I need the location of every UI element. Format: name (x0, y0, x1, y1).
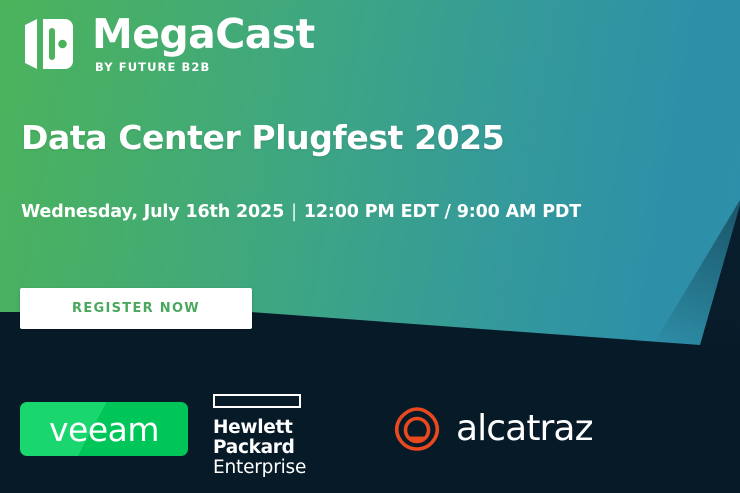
hpe-line-2: Enterprise (213, 458, 378, 479)
brand-name: MegaCast (92, 14, 315, 55)
brand-lockup: MegaCast BY FUTURE B2B (20, 14, 315, 74)
veeam-logo-icon[interactable]: veeam (20, 402, 188, 456)
veeam-wordmark: veeam (49, 413, 159, 446)
hpe-logo[interactable]: Hewlett Packard Enterprise (213, 394, 378, 479)
alcatraz-shield-icon (392, 404, 442, 454)
datetime-separator: | (284, 202, 304, 222)
hpe-rectangle-icon (213, 394, 301, 408)
event-date: Wednesday, July 16th 2025 (21, 202, 284, 222)
webinar-promo-banner: MegaCast BY FUTURE B2B Data Center Plugf… (0, 0, 740, 493)
sponsor-logo-strip: veeam Hewlett Packard Enterprise alcatra… (0, 388, 740, 478)
brand-tagline: BY FUTURE B2B (95, 60, 315, 74)
event-datetime: Wednesday, July 16th 2025|12:00 PM EDT /… (21, 202, 581, 222)
event-time: 12:00 PM EDT / 9:00 AM PDT (304, 202, 581, 222)
register-now-label: REGISTER NOW (72, 301, 200, 316)
register-now-button[interactable]: REGISTER NOW (20, 288, 252, 329)
megacast-mark-icon (20, 16, 78, 72)
page-title: Data Center Plugfest 2025 (21, 120, 504, 156)
alcatraz-wordmark: alcatraz (456, 411, 593, 447)
brand-text: MegaCast BY FUTURE B2B (92, 14, 315, 74)
hpe-line-1: Hewlett Packard (213, 418, 378, 458)
alcatraz-logo[interactable]: alcatraz (392, 404, 593, 454)
